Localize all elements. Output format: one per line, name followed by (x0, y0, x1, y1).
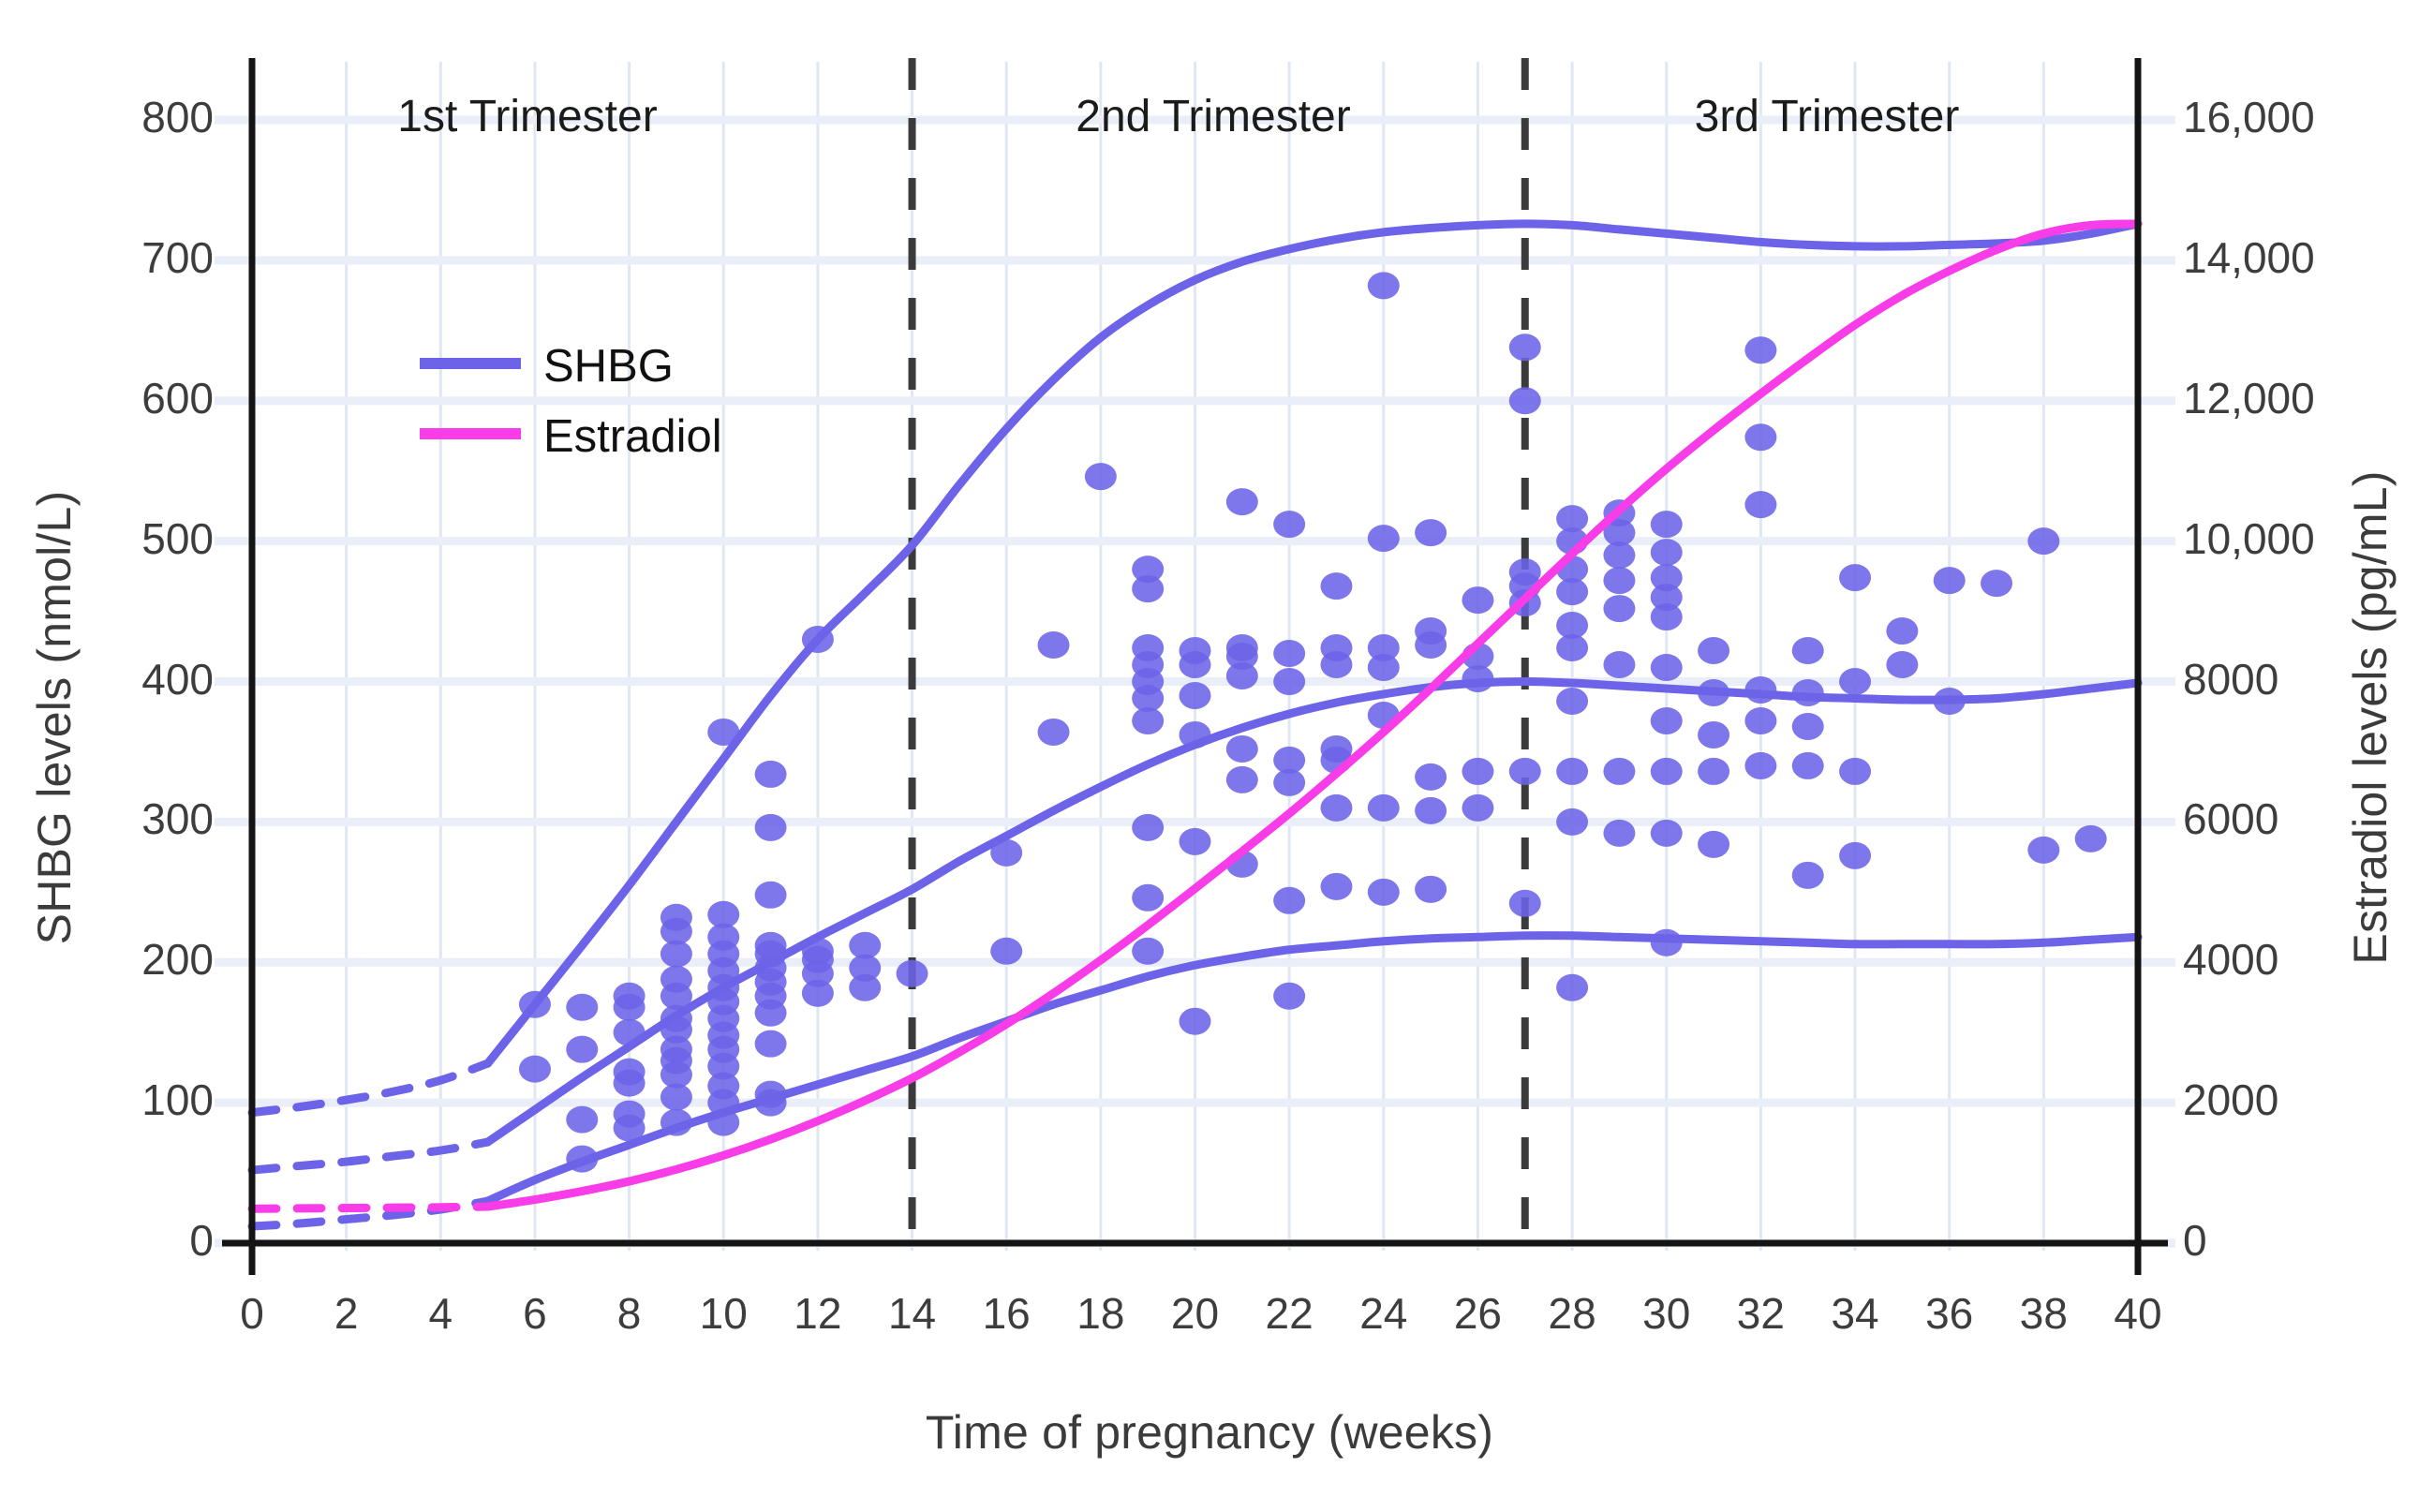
x-axis-title: Time of pregnancy (weeks) (0, 1405, 2419, 1460)
trimester-label-third: 3rd Trimester (1583, 91, 2070, 142)
y-tick-right-0: 0 (2183, 1215, 2419, 1266)
y-tick-left-100: 100 (0, 1075, 214, 1125)
y-tick-right-6000: 6000 (2183, 793, 2419, 844)
chart-plot-area (0, 0, 2419, 1512)
trimester-label-first: 1st Trimester (284, 91, 771, 142)
y-tick-right-2000: 2000 (2183, 1075, 2419, 1125)
y-tick-left-300: 300 (0, 793, 214, 844)
x-tick-40: 40 (2082, 1288, 2194, 1339)
y-tick-left-800: 800 (0, 92, 214, 142)
legend-label-estradiol: Estradiol (543, 410, 722, 463)
y-tick-right-16,000: 16,000 (2183, 92, 2419, 142)
y-axis-right-title: Estradiol levels (pg/mL) (2343, 418, 2397, 1017)
y-tick-left-200: 200 (0, 934, 214, 985)
y-tick-right-14,000: 14,000 (2183, 232, 2419, 283)
y-tick-left-700: 700 (0, 232, 214, 283)
y-tick-left-500: 500 (0, 513, 214, 564)
y-axis-left-title: SHBG levels (nmol/L) (27, 418, 82, 1017)
y-tick-left-600: 600 (0, 373, 214, 423)
legend-label-shbg: SHBG (543, 340, 674, 393)
y-tick-right-4000: 4000 (2183, 934, 2419, 985)
trimester-label-second: 2nd Trimester (970, 91, 1457, 142)
y-tick-left-400: 400 (0, 654, 214, 704)
y-tick-right-8000: 8000 (2183, 654, 2419, 704)
y-tick-left-0: 0 (0, 1215, 214, 1266)
scatter-points (519, 272, 2107, 1172)
y-tick-right-12,000: 12,000 (2183, 373, 2419, 423)
chart-canvas: SHBG levels (nmol/L) Estradiol levels (p… (0, 0, 2419, 1512)
y-tick-right-10,000: 10,000 (2183, 513, 2419, 564)
